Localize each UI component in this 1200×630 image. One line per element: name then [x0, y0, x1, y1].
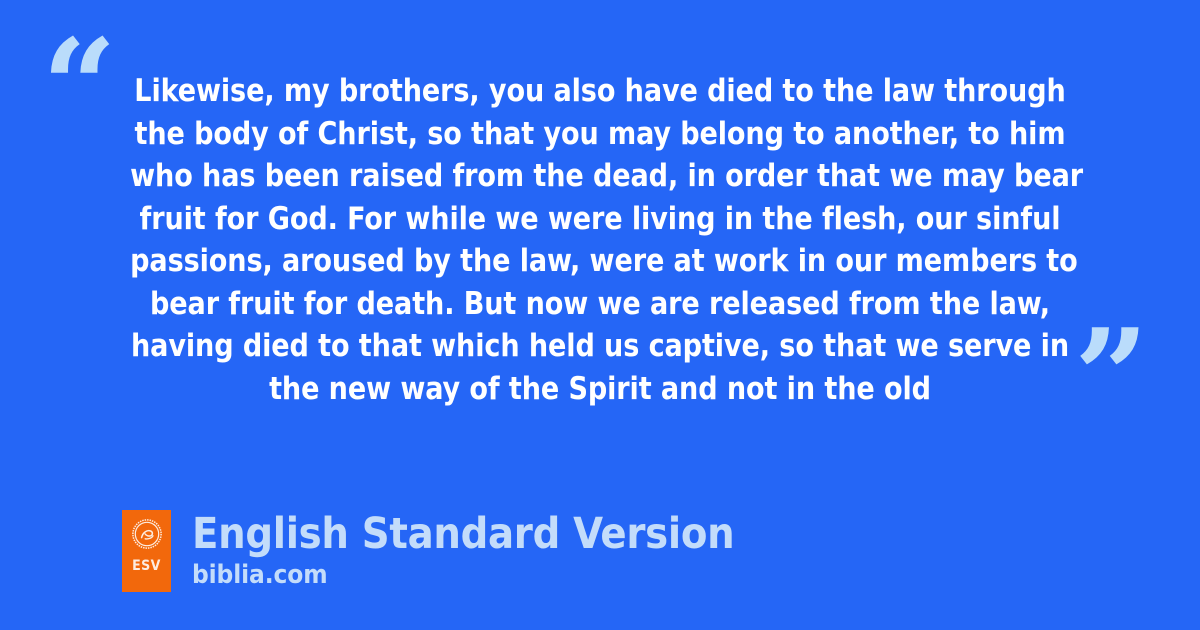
quote-line: who has been raised from the dead, in or…: [130, 155, 1070, 198]
opening-quote-icon: “: [42, 22, 115, 152]
attribution: ESV English Standard Version biblia.com: [122, 510, 734, 592]
site-url[interactable]: biblia.com: [192, 561, 734, 589]
esv-abbreviation: ESV: [132, 559, 161, 573]
closing-quote-icon: ”: [1074, 312, 1147, 442]
quote-line: passions, aroused by the law, were at wo…: [130, 240, 1070, 283]
quote-line: the body of Christ, so that you may belo…: [130, 113, 1070, 156]
attribution-text: English Standard Version biblia.com: [192, 510, 734, 589]
quote-card: “ ” Likewise, my brothers, you also have…: [0, 0, 1200, 630]
quote-line: Likewise, my brothers, you also have die…: [130, 70, 1070, 113]
quote-line: fruit for God. For while we were living …: [130, 198, 1070, 241]
quote-line: having died to that which held us captiv…: [130, 325, 1070, 368]
quote-line: bear fruit for death. But now we are rel…: [130, 283, 1070, 326]
quote-text: Likewise, my brothers, you also have die…: [130, 70, 1070, 410]
bible-version-name: English Standard Version: [192, 511, 734, 558]
quote-line: the new way of the Spirit and not in the…: [130, 368, 1070, 411]
esv-seal-icon: [132, 519, 162, 549]
esv-logo: ESV: [122, 510, 171, 592]
